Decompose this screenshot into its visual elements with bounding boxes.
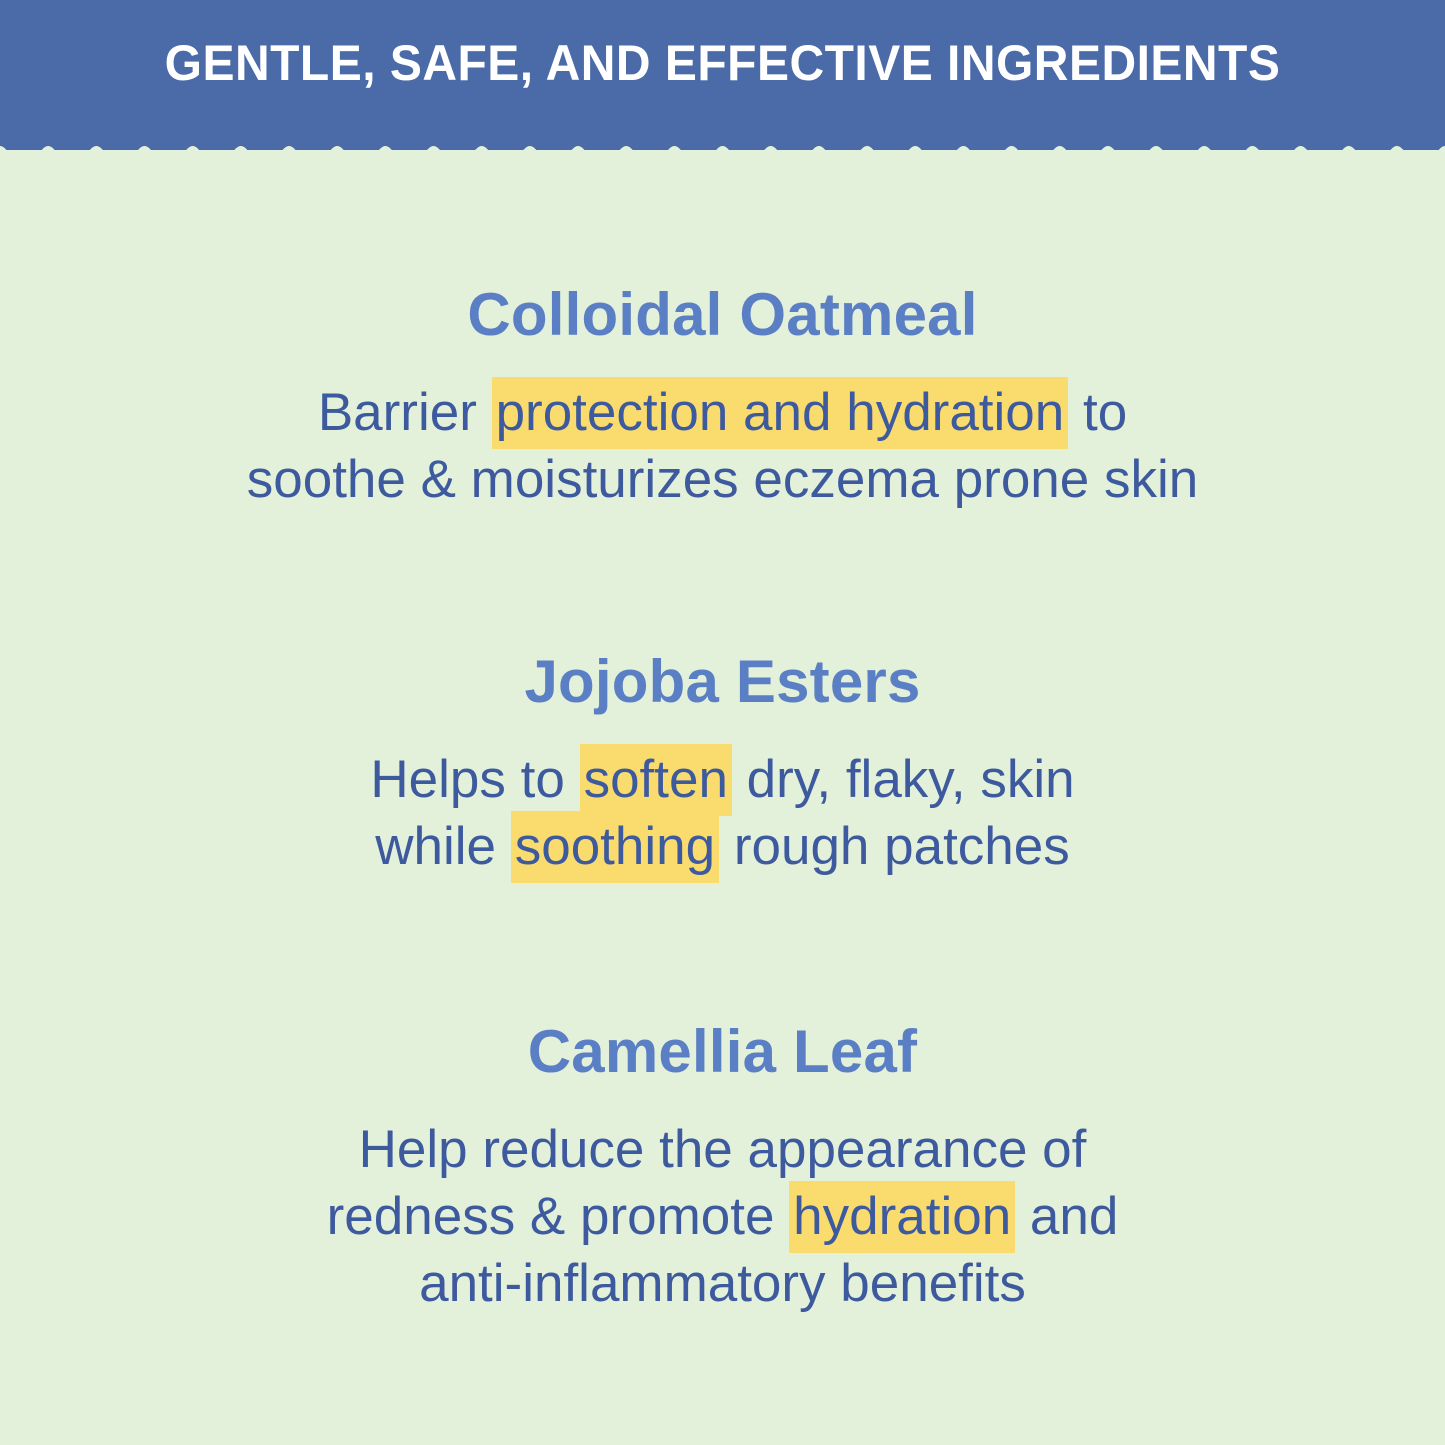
ingredients-list: Colloidal Oatmeal Barrier protection and… <box>0 178 1445 1445</box>
highlighted-phrase: soothing <box>511 811 719 883</box>
ingredient-name: Colloidal Oatmeal <box>0 283 1445 346</box>
description-line: while soothing rough patches <box>90 814 1355 881</box>
description-line: redness & promote hydration and <box>90 1184 1355 1251</box>
description-line: soothe & moisturizes eczema prone skin <box>90 447 1355 514</box>
ingredients-infographic: GENTLE, SAFE, AND EFFECTIVE INGREDIENTS … <box>0 0 1445 1445</box>
text-run: redness & promote <box>327 1187 790 1246</box>
ingredient-section-colloidal-oatmeal: Colloidal Oatmeal Barrier protection and… <box>0 283 1445 514</box>
text-run: soothe & moisturizes eczema prone skin <box>247 450 1199 509</box>
text-run: rough patches <box>719 817 1070 876</box>
description-line: Help reduce the appearance of <box>90 1117 1355 1184</box>
text-run: Helps to <box>370 750 579 809</box>
text-run: dry, flaky, skin <box>732 750 1075 809</box>
highlighted-phrase: protection and hydration <box>492 377 1069 449</box>
highlighted-phrase: soften <box>580 744 732 816</box>
page-title: GENTLE, SAFE, AND EFFECTIVE INGREDIENTS <box>29 0 1416 150</box>
text-run: anti-inflammatory benefits <box>419 1254 1026 1313</box>
description-line: Barrier protection and hydration to <box>90 380 1355 447</box>
ingredient-name: Jojoba Esters <box>0 650 1445 713</box>
ingredient-description: Barrier protection and hydration tosooth… <box>0 380 1445 514</box>
ingredient-description: Help reduce the appearance ofredness & p… <box>0 1117 1445 1317</box>
description-line: Helps to soften dry, flaky, skin <box>90 747 1355 814</box>
text-run: while <box>375 817 511 876</box>
ingredient-section-jojoba-esters: Jojoba Esters Helps to soften dry, flaky… <box>0 650 1445 881</box>
ingredient-section-camellia-leaf: Camellia Leaf Help reduce the appearance… <box>0 1020 1445 1317</box>
ingredient-description: Helps to soften dry, flaky, skinwhile so… <box>0 747 1445 881</box>
text-run: to <box>1068 383 1127 442</box>
description-line: anti-inflammatory benefits <box>90 1251 1355 1318</box>
text-run: Barrier <box>318 383 492 442</box>
text-run: and <box>1015 1187 1118 1246</box>
highlighted-phrase: hydration <box>789 1181 1015 1253</box>
text-run: Help reduce the appearance of <box>359 1120 1087 1179</box>
ingredient-name: Camellia Leaf <box>0 1020 1445 1083</box>
scalloped-wave-divider <box>0 138 1445 178</box>
